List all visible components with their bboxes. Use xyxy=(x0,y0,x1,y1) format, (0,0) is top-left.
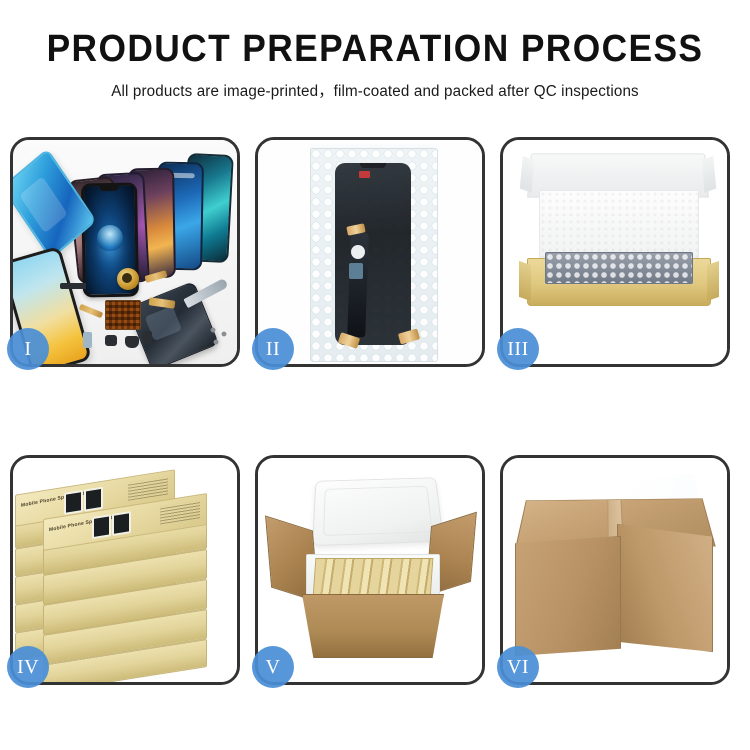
white-pad xyxy=(351,245,365,259)
step-badge-4: IV xyxy=(7,646,49,688)
process-step-panel-1[interactable]: I xyxy=(10,137,240,367)
step-badge-6: VI xyxy=(497,646,539,688)
box-art-screen-4 xyxy=(112,511,131,536)
screws-group xyxy=(209,326,231,348)
step-badge-5: V xyxy=(252,646,294,688)
process-step-grid: I II xyxy=(10,137,740,685)
lcd-screen-assembly xyxy=(335,163,411,345)
carton-body-open xyxy=(302,594,444,658)
flex-cable-3 xyxy=(79,304,104,319)
step-image-stacked-gold-boxes: Mobile Phone Spare Parts Mobile Phone Sp… xyxy=(13,458,237,682)
step-image-sealed-carton xyxy=(503,458,727,682)
small-part-3 xyxy=(143,331,152,344)
page-title: PRODUCT PREPARATION PROCESS xyxy=(26,30,724,70)
carton-front-face xyxy=(515,536,621,656)
step-badge-1: I xyxy=(7,328,49,370)
box-spec-lines-left xyxy=(128,476,168,500)
step-badge-2: II xyxy=(252,328,294,370)
process-step-panel-6[interactable]: VI xyxy=(500,455,730,685)
gold-box-stack: Mobile Phone Spare Parts Mobile Phone Sp… xyxy=(13,458,237,682)
gold-coil-part xyxy=(117,268,139,290)
small-part-4 xyxy=(83,332,92,348)
carton-seam-top xyxy=(572,657,582,681)
carton-side-face xyxy=(617,524,713,652)
box-art-screen-2 xyxy=(84,487,103,512)
foam-lid-open xyxy=(312,477,444,546)
bubble-wrapped-items xyxy=(545,252,693,284)
speaker-module xyxy=(60,283,86,289)
red-qc-mark xyxy=(359,171,370,178)
small-part-2 xyxy=(125,336,139,348)
small-part-1 xyxy=(105,335,117,346)
process-step-panel-3[interactable]: III xyxy=(500,137,730,367)
box-spec-lines-right xyxy=(160,500,200,524)
step-image-parts-overview xyxy=(13,140,237,364)
gold-boxes-inside xyxy=(313,558,434,598)
page-header: PRODUCT PREPARATION PROCESS All products… xyxy=(0,0,750,101)
process-step-panel-2[interactable]: II xyxy=(255,137,485,367)
blue-chip xyxy=(349,263,363,279)
step-badge-3: III xyxy=(497,328,539,370)
product-preparation-page: PRODUCT PREPARATION PROCESS All products… xyxy=(0,0,750,750)
copper-chip-grid xyxy=(105,300,141,330)
step-image-gold-tray-box xyxy=(503,140,727,364)
step-image-carton-loading xyxy=(258,458,482,682)
jellyfish-wallpaper xyxy=(97,225,123,251)
page-subtitle: All products are image-printed，film-coat… xyxy=(8,79,743,101)
box-art-screen-3 xyxy=(92,514,111,539)
bubble-wrap-bag xyxy=(310,148,438,362)
box-art-screen-1 xyxy=(64,490,83,515)
process-step-panel-4[interactable]: Mobile Phone Spare Parts Mobile Phone Sp… xyxy=(10,455,240,685)
process-step-panel-5[interactable]: V xyxy=(255,455,485,685)
step-image-bubble-wrapped-screen xyxy=(258,140,482,364)
